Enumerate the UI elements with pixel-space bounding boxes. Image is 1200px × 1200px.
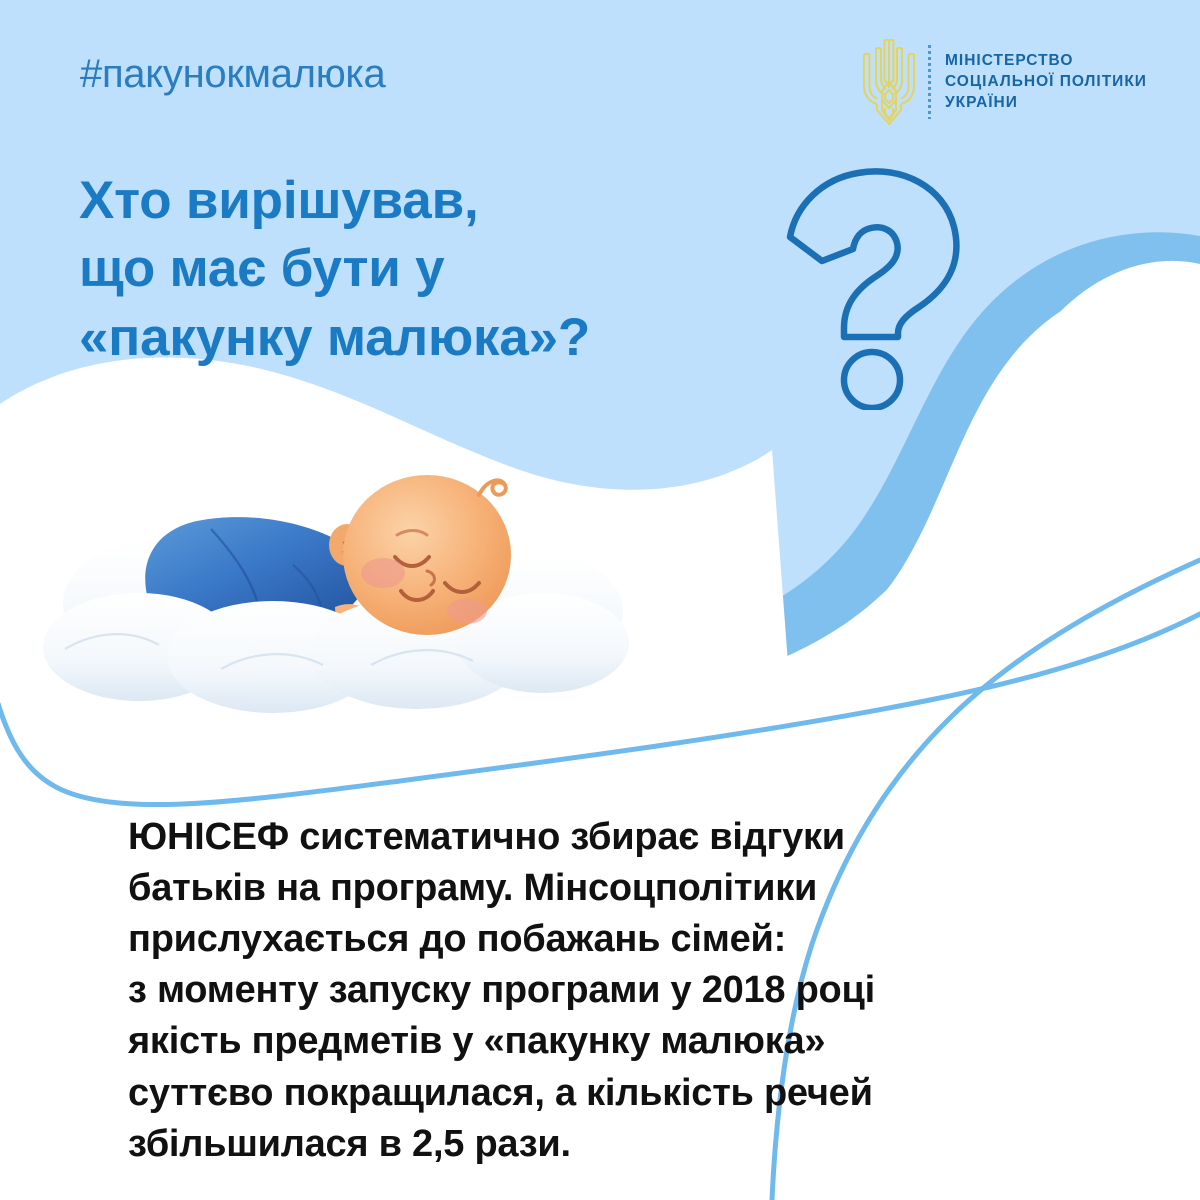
- body-line-3: прислухається до побажань сімей:: [128, 914, 1088, 965]
- body-line-1: ЮНІСЕФ систематично збирає відгуки: [128, 812, 1088, 863]
- page-title-line-1: Хто вирішував,: [79, 167, 799, 236]
- body-line-4: з моменту запуску програми у 2018 році: [128, 965, 1088, 1016]
- poster-canvas: #пакунокмалюка Хто вирішував, що має бут…: [0, 0, 1200, 1200]
- ministry-logo: МІНІСТЕРСТВО СОЦІАЛЬНОЇ ПОЛІТИКИ УКРАЇНИ: [856, 36, 1147, 128]
- ministry-logo-line-2: СОЦІАЛЬНОЇ ПОЛІТИКИ: [945, 74, 1147, 90]
- body-line-2: батьків на програму. Мінсоцполітики: [128, 863, 1088, 914]
- page-title-line-2: що має бути у: [79, 235, 799, 304]
- tryzub-icon: [856, 36, 922, 128]
- body-line-5: якість предметів у «пакунку малюка»: [128, 1016, 1088, 1067]
- body-line-6: суттєво покращилася, а кількість речей: [128, 1068, 1088, 1119]
- ministry-logo-line-1: МІНІСТЕРСТВО: [945, 53, 1147, 69]
- sleeping-baby-on-cloud-illustration: [35, 425, 635, 725]
- body-paragraph: ЮНІСЕФ систематично збирає відгуки батьк…: [128, 812, 1088, 1170]
- page-title: Хто вирішував, що має бути у «пакунку ма…: [79, 167, 799, 374]
- ministry-logo-text: МІНІСТЕРСТВО СОЦІАЛЬНОЇ ПОЛІТИКИ УКРАЇНИ: [945, 53, 1147, 111]
- body-line-7: збільшилася в 2,5 рази.: [128, 1119, 1088, 1170]
- hashtag-label: #пакунокмалюка: [80, 52, 385, 97]
- ministry-logo-line-3: УКРАЇНИ: [945, 95, 1147, 111]
- logo-divider: [928, 45, 931, 119]
- question-mark-icon: [786, 165, 976, 410]
- page-title-line-3: «пакунку малюка»?: [79, 304, 799, 373]
